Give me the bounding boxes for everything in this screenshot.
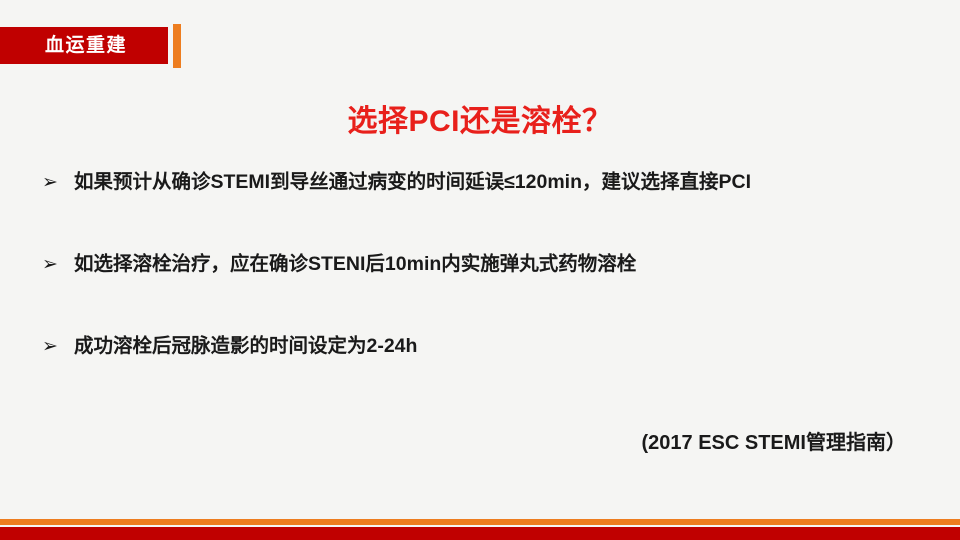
source-citation: (2017 ESC STEMI管理指南） — [0, 430, 906, 456]
arrow-bullet-icon: ➢ — [42, 332, 74, 360]
arrow-bullet-icon: ➢ — [42, 250, 74, 278]
list-item-text: 如果预计从确诊STEMI到导丝通过病变的时间延误≤120min，建议选择直接PC… — [74, 168, 947, 196]
presentation-slide: 血运重建 选择PCI还是溶栓？ ➢ 如果预计从确诊STEMI到导丝通过病变的时间… — [0, 0, 960, 540]
bullet-list: ➢ 如果预计从确诊STEMI到导丝通过病变的时间延误≤120min，建议选择直接… — [42, 168, 947, 360]
section-tab-banner: 血运重建 — [0, 27, 168, 64]
list-item: ➢ 如选择溶栓治疗，应在确诊STENI后10min内实施弹丸式药物溶栓 — [42, 250, 947, 278]
list-item-text: 如选择溶栓治疗，应在确诊STENI后10min内实施弹丸式药物溶栓 — [74, 250, 947, 278]
arrow-bullet-icon: ➢ — [42, 168, 74, 196]
list-item: ➢ 如果预计从确诊STEMI到导丝通过病变的时间延误≤120min，建议选择直接… — [42, 168, 947, 196]
section-tab-label: 血运重建 — [41, 36, 127, 55]
footer-red-divider — [0, 527, 960, 540]
footer-orange-divider — [0, 519, 960, 525]
list-item: ➢ 成功溶栓后冠脉造影的时间设定为2-24h — [42, 332, 947, 360]
header-accent-bar — [173, 24, 181, 68]
list-item-text: 成功溶栓后冠脉造影的时间设定为2-24h — [74, 332, 947, 360]
page-title: 选择PCI还是溶栓？ — [0, 104, 960, 140]
